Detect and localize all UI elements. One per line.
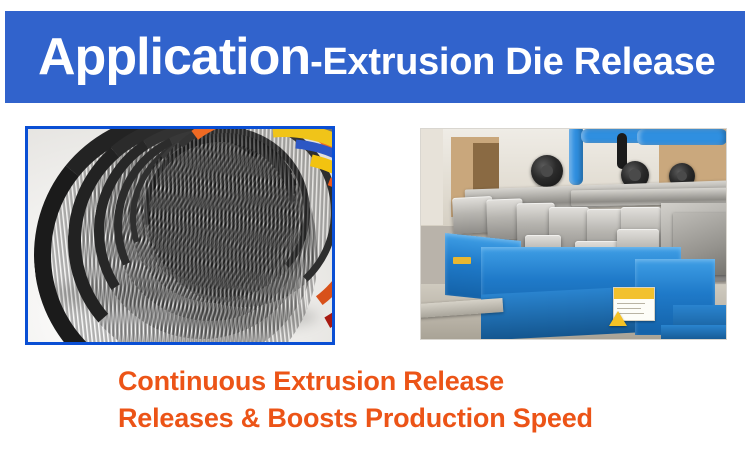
- pulley-wheel: [531, 155, 563, 187]
- title-subtitle: -Extrusion Die Release: [310, 41, 715, 83]
- header-banner: Application-Extrusion Die Release: [5, 11, 745, 103]
- title-main: Application: [38, 28, 310, 86]
- extruded-hoses-photo: [25, 126, 335, 345]
- machine-scene: [421, 129, 726, 339]
- extrusion-die-machine-photo: [420, 128, 727, 340]
- warning-label-text-line: [617, 308, 641, 309]
- page-title: Application-Extrusion Die Release: [38, 27, 715, 87]
- tagline-primary: Continuous Extrusion Release: [118, 366, 504, 397]
- warning-label-band: [614, 288, 654, 299]
- wall-panel: [421, 129, 443, 225]
- machine-nameplate: [453, 257, 471, 264]
- warning-label-text-line: [617, 303, 645, 304]
- floor-rail: [661, 325, 726, 339]
- application-extrusion-die-release-graphic: Application-Extrusion Die Release: [0, 0, 750, 460]
- hoses-scene: [28, 129, 332, 342]
- blue-pipe: [637, 129, 726, 145]
- warning-triangle-icon: [609, 311, 627, 326]
- tagline-secondary: Releases & Boosts Production Speed: [118, 403, 593, 434]
